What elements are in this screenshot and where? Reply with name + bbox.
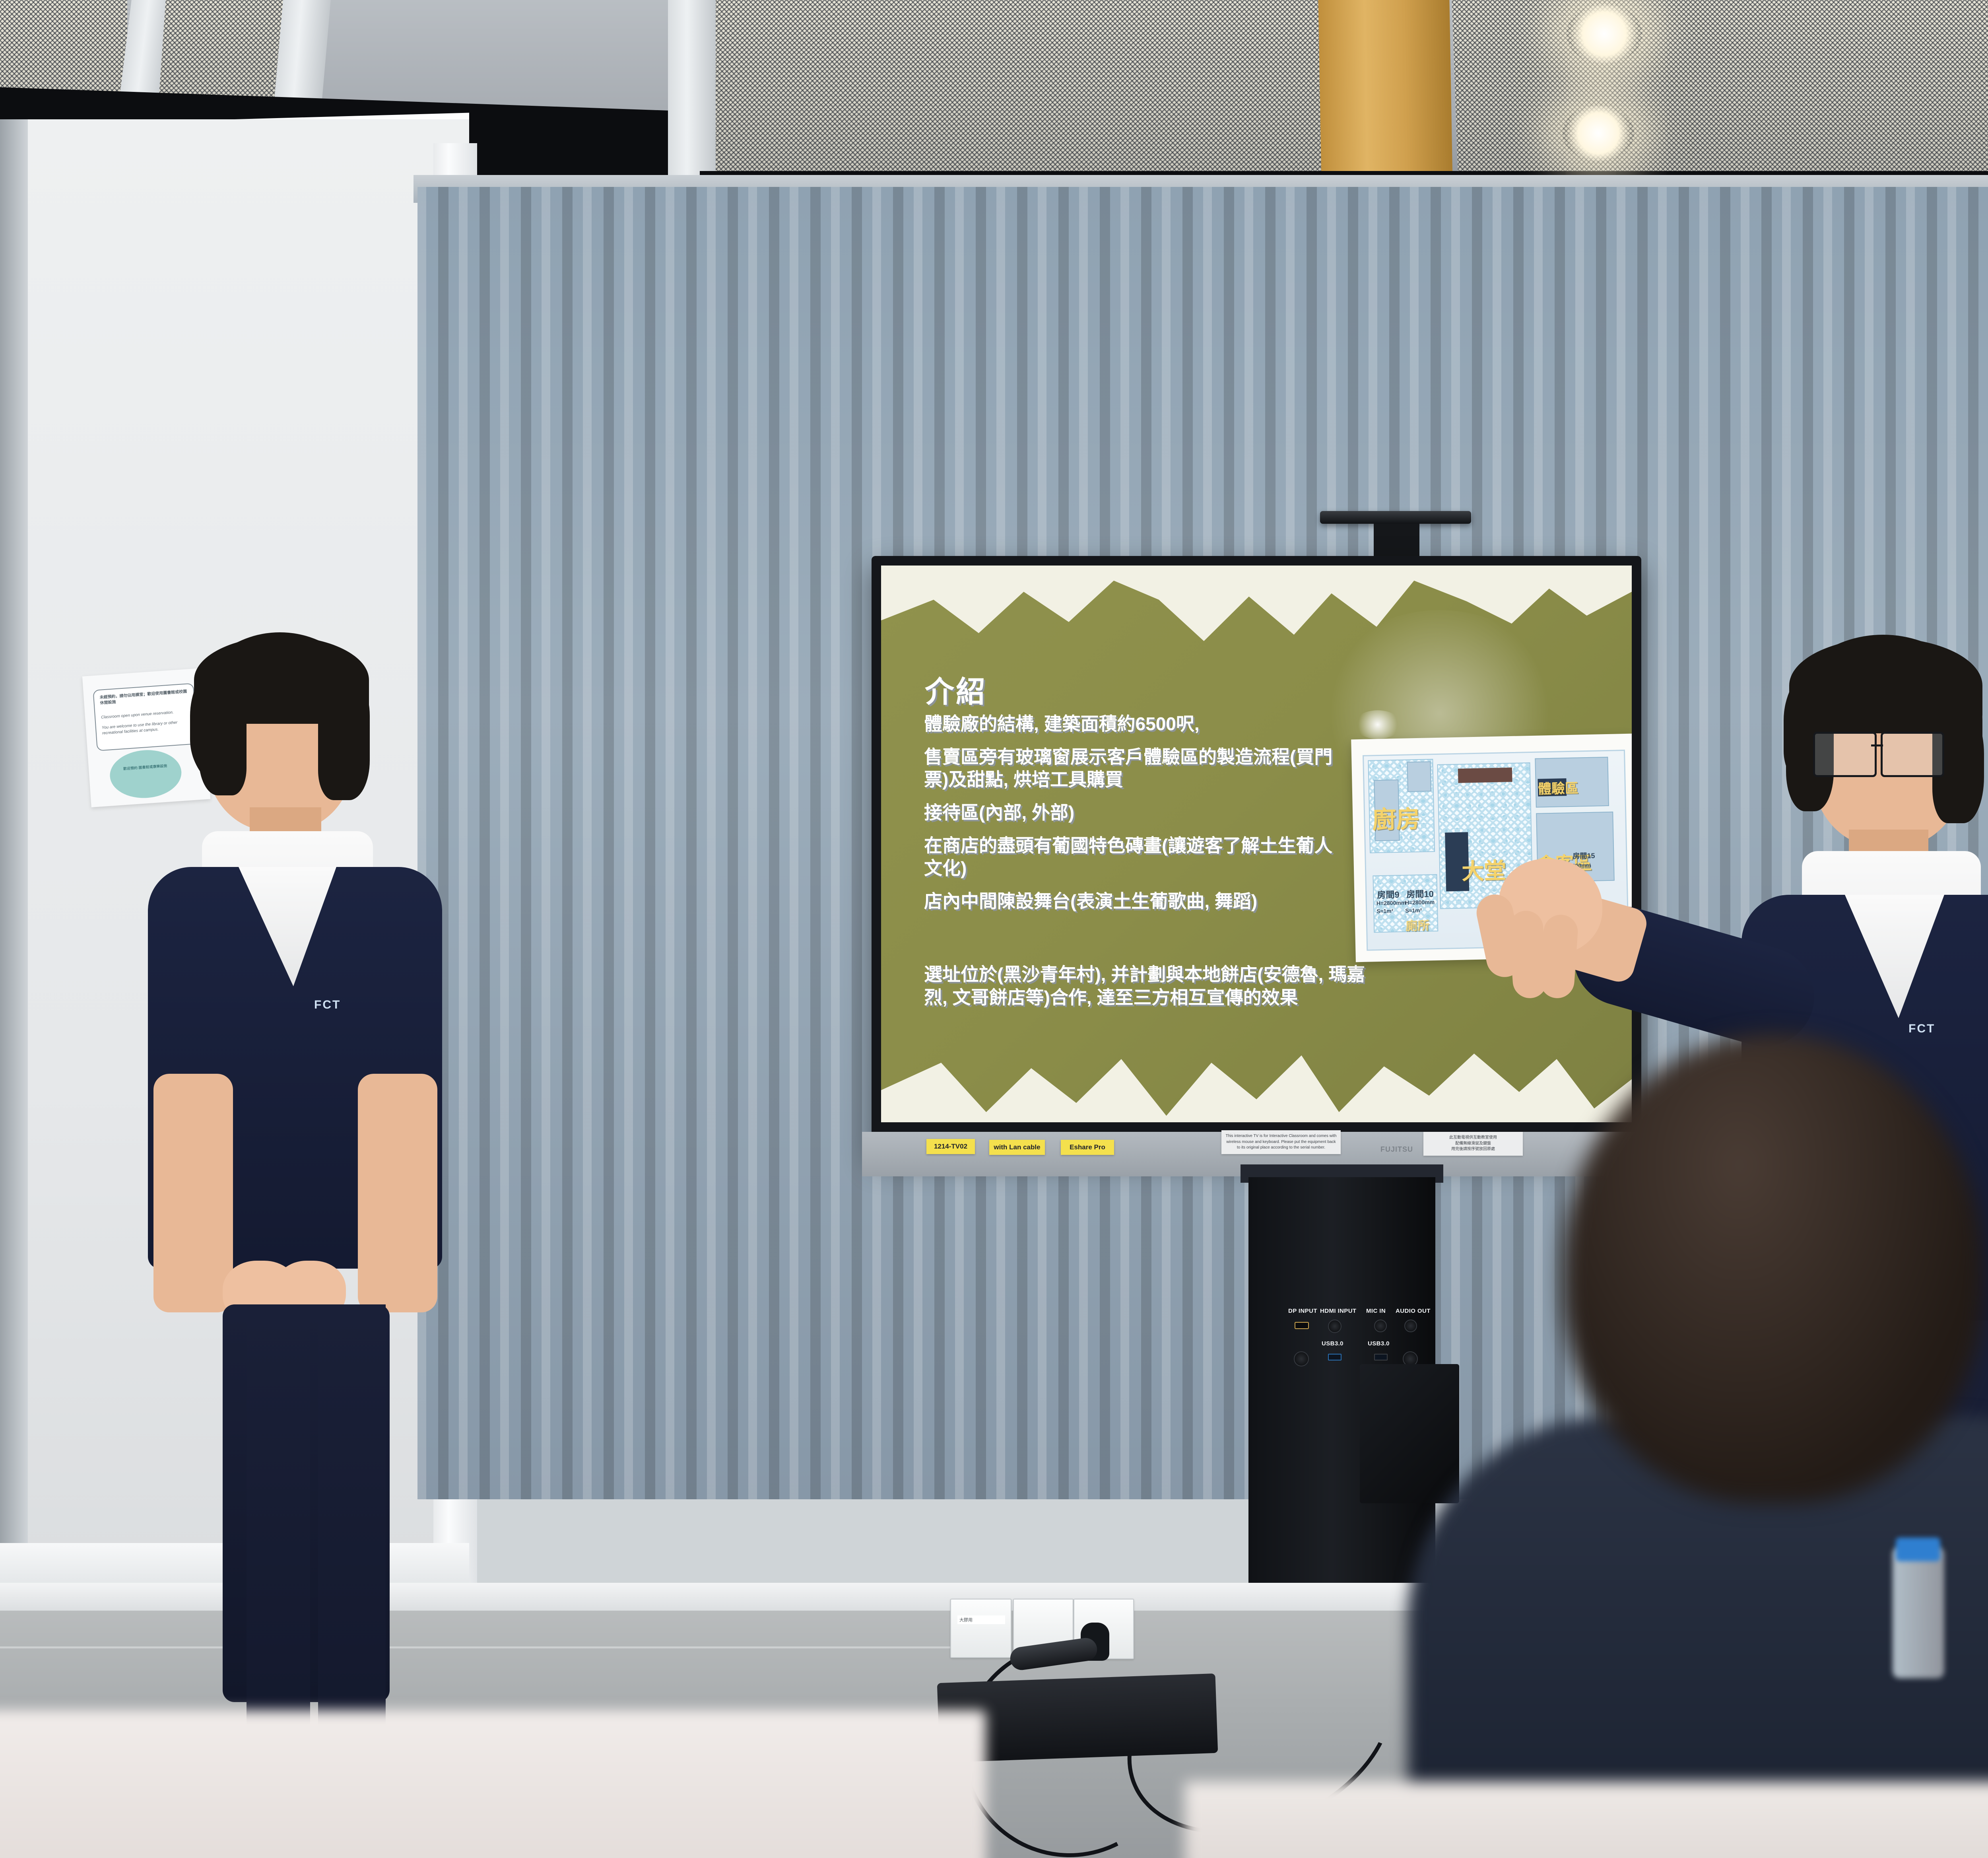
slide-bullet-list: 體驗廠的結構, 建築面積約6500呎, 售賣區旁有玻璃窗展示客戶體驗區的製造流程… (924, 713, 1345, 923)
slide-decoration-top (881, 566, 1632, 644)
port-label-dp: DP INPUT (1288, 1308, 1317, 1314)
floor-seam (0, 1646, 994, 1648)
outlet-label: 大膠用 (957, 1615, 1005, 1624)
water-bottle[interactable] (1893, 1547, 1944, 1678)
floor-plan-room-area: S≈1m² (1376, 908, 1393, 914)
aux-port-icon[interactable] (1294, 1351, 1309, 1366)
tv-tag-eshare: Eshare Pro (1061, 1140, 1114, 1155)
floor-plan-room-area: S≈1m² (1405, 907, 1422, 914)
slide-footnote: 選址位於(黑沙青年村), 并計劃與本地餅店(安德魯, 瑪嘉烈, 文哥餅店等)合作… (924, 963, 1369, 1009)
presentation-room-photo: 未經預約，請勿佔用課室；歡迎使用圖書館或校園休閒設施 Classroom ope… (0, 0, 1988, 1858)
floor-plan-label-experience: 體驗區 (1538, 777, 1578, 798)
poster-circle: 歡迎預約 圖書館或康樂設施 (108, 748, 183, 800)
tv-notice-cn: 此互動電視供互動教室使用 配備無線滑鼠及鍵盤 用完後請按序號放回原處 (1423, 1132, 1523, 1156)
audience-foreground-head (1563, 1034, 1984, 1503)
port-label-mic: MIC IN (1366, 1308, 1386, 1314)
slide-title: 介紹 (925, 668, 987, 711)
stand-equipment-box (1360, 1364, 1459, 1503)
interactive-tv-screen[interactable]: 介紹 體驗廠的結構, 建築面積約6500呎, 售賣區旁有玻璃窗展示客戶體驗區的製… (881, 566, 1632, 1122)
camera-mount (1374, 524, 1419, 560)
floor-plan-label-lobby: 大堂 (1461, 853, 1507, 886)
poster-line-en-2: You are welcome to use the library or ot… (102, 719, 190, 736)
slide-bullet: 店內中間陳設舞台(表演土生葡歌曲, 舞蹈) (924, 890, 1345, 913)
audio-out-jack-icon[interactable] (1404, 1320, 1417, 1332)
speech-bubble-icon: 未經預約，請勿佔用課室；歡迎使用圖書館或校園休閒設施 Classroom ope… (93, 683, 198, 751)
floor-plan-label-kitchen: 廚房 (1372, 800, 1420, 835)
downlight-icon (1567, 4, 1642, 64)
conference-camera-icon (1320, 511, 1471, 524)
slide-decoration-bottom (881, 1032, 1632, 1122)
presentation-slide: 介紹 體驗廠的結構, 建築面積約6500呎, 售賣區旁有玻璃窗展示客戶體驗區的製… (881, 566, 1632, 1122)
dp-port-icon[interactable] (1295, 1322, 1309, 1329)
hdmi-port-icon[interactable] (1328, 1320, 1342, 1333)
ceiling-wood-beam (1318, 0, 1453, 191)
poster-circle-text: 歡迎預約 圖書館或康樂設施 (109, 763, 181, 772)
poster-line-en-1: Classroom open upon venue reservation. (101, 709, 189, 720)
tv-brand-logo: FUJITSU (1380, 1145, 1413, 1154)
foreground-table-right (1185, 1782, 1988, 1858)
slide-bullet: 售賣區旁有玻璃窗展示客戶體驗區的製造流程(買門票)及甜點, 烘培工具購買 (924, 746, 1345, 791)
port-label-audio: AUDIO OUT (1396, 1308, 1431, 1314)
tv-tag-serial: 1214-TV02 (926, 1139, 975, 1154)
uniform-emblem: FCT (1908, 1022, 1935, 1036)
port-label-usb-2: USB3.0 (1368, 1340, 1390, 1347)
floor-plan-room-name: 房間10 (1406, 887, 1434, 900)
screen-glare (1354, 710, 1402, 739)
tv-notice-en: This interactive TV is for Interactive C… (1221, 1130, 1341, 1154)
bottle-cap-icon (1896, 1537, 1940, 1561)
usb3-port-icon[interactable] (1374, 1354, 1388, 1360)
tv-tag-lan: with Lan cable (989, 1140, 1045, 1155)
mic-in-jack-icon[interactable] (1374, 1320, 1387, 1332)
slide-bullet: 體驗廠的結構, 建築面積約6500呎, (924, 713, 1345, 735)
port-label-hdmi: HDMI INPUT (1320, 1308, 1357, 1314)
foreground-table-left (0, 1710, 986, 1858)
downlight-icon (1563, 105, 1634, 161)
floor-plan-room-height: H=2800mm (1405, 899, 1435, 906)
floor-plan-label-toilet: 廁所 (1406, 915, 1430, 933)
poster-line-cn: 未經預約，請勿佔用課室；歡迎使用圖書館或校園休閒設施 (99, 689, 187, 706)
slide-bullet: 在商店的盡頭有葡國特色磚畫(讓遊客了解土生葡人文化) (924, 834, 1345, 880)
floor-plan-room-name: 房間9 (1377, 888, 1400, 901)
port-label-usb-1: USB3.0 (1322, 1340, 1343, 1347)
wall-plate-left[interactable]: 大膠用 (950, 1599, 1011, 1658)
floor-plan-room-name: 房間15 (1573, 850, 1595, 861)
floor-plan-room-height: H=2800mm (1376, 900, 1406, 907)
slide-bullet: 接待區(內部, 外部) (924, 801, 1345, 824)
usb3-port-icon[interactable] (1328, 1354, 1342, 1360)
uniform-emblem: FCT (314, 998, 341, 1012)
